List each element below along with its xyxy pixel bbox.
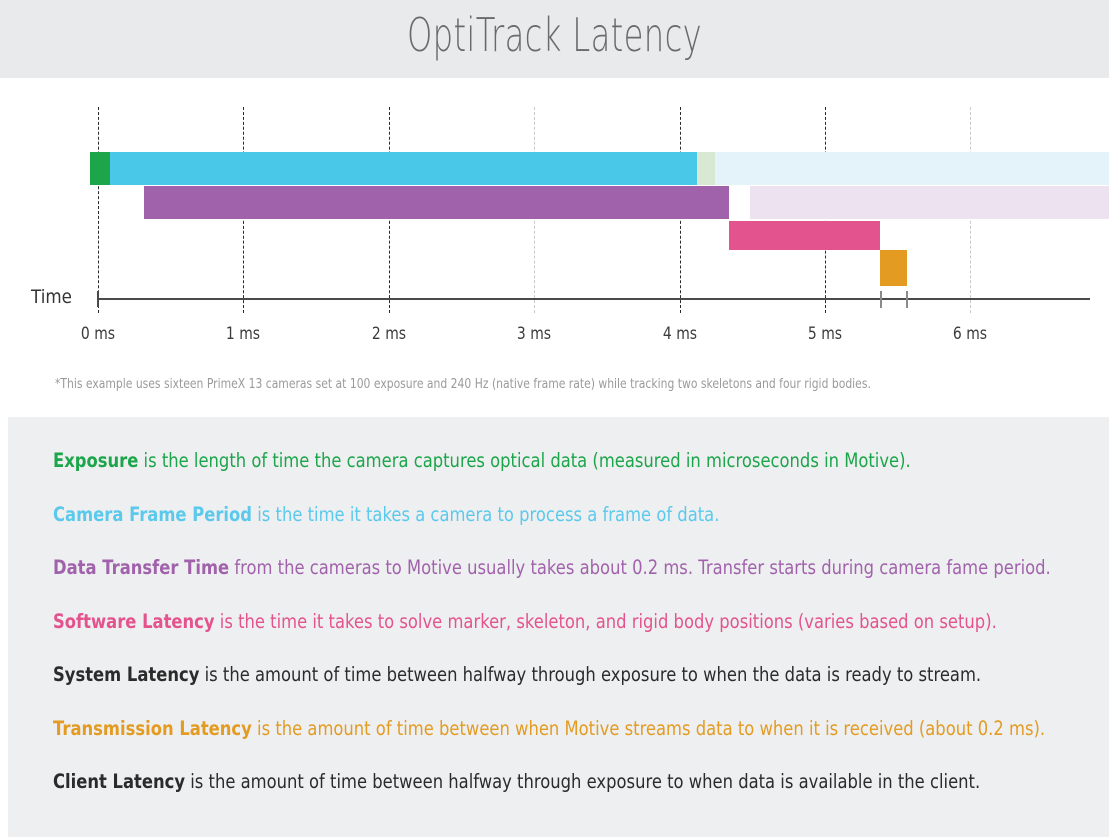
legend-description: is the amount of time between when Motiv… [252,717,1045,740]
axis-extra-tick-0 [880,291,882,308]
legend-term: Data Transfer Time [53,556,229,579]
chart-area: Time 0 ms1 ms2 ms3 ms4 ms5 ms6 ms *This … [0,78,1109,417]
tick-label-5ms: 5 ms [808,324,842,344]
legend-description: is the time it takes a camera to process… [252,503,719,526]
legend-panel: Exposure is the length of time the camer… [8,417,1109,837]
legend-item-camera-frame-period: Camera Frame Period is the time it takes… [53,503,719,526]
tick-label-4ms: 4 ms [663,324,697,344]
tick-label-1ms: 1 ms [226,324,260,344]
header-band: OptiTrack Latency [0,0,1109,78]
bar-software-latency [729,221,880,250]
page-title: OptiTrack Latency [166,8,942,62]
time-axis-origin-cap [97,291,99,307]
legend-term: Client Latency [53,770,185,793]
legend-term: Software Latency [53,610,215,633]
bar-system-latency [697,152,715,185]
tick-label-0ms: 0 ms [81,324,115,344]
legend-item-data-transfer-time: Data Transfer Time from the cameras to M… [53,556,1051,579]
bar-client-latency-extension [750,186,1108,219]
bar-transmission-latency [880,250,907,286]
tick-label-3ms: 3 ms [517,324,551,344]
bar-data-transfer-time [144,186,730,219]
tick-label-6ms: 6 ms [953,324,987,344]
legend-item-system-latency: System Latency is the amount of time bet… [53,663,981,686]
axis-title-time: Time [31,286,72,308]
gridline-0ms [98,107,99,313]
tick-label-2ms: 2 ms [372,324,406,344]
legend-description: is the amount of time between halfway th… [185,770,980,793]
time-axis-line [98,298,1090,300]
legend-item-transmission-latency: Transmission Latency is the amount of ti… [53,717,1045,740]
legend-term: Transmission Latency [53,717,252,740]
legend-item-exposure: Exposure is the length of time the camer… [53,449,911,472]
bar-camera-frame-period [110,152,697,185]
legend-item-client-latency: Client Latency is the amount of time bet… [53,770,980,793]
bar-system-latency-extension [715,152,1108,185]
axis-extra-tick-1 [906,291,908,308]
legend-description: is the amount of time between halfway th… [199,663,981,686]
legend-term: System Latency [53,663,199,686]
chart-footnote: *This example uses sixteen PrimeX 13 cam… [55,376,871,392]
legend-term: Camera Frame Period [53,503,252,526]
legend-description: from the cameras to Motive usually takes… [229,556,1051,579]
legend-description: is the length of time the camera capture… [138,449,910,472]
legend-description: is the time it takes to solve marker, sk… [215,610,997,633]
bar-exposure [90,152,110,185]
legend-item-software-latency: Software Latency is the time it takes to… [53,610,997,633]
legend-term: Exposure [53,449,138,472]
